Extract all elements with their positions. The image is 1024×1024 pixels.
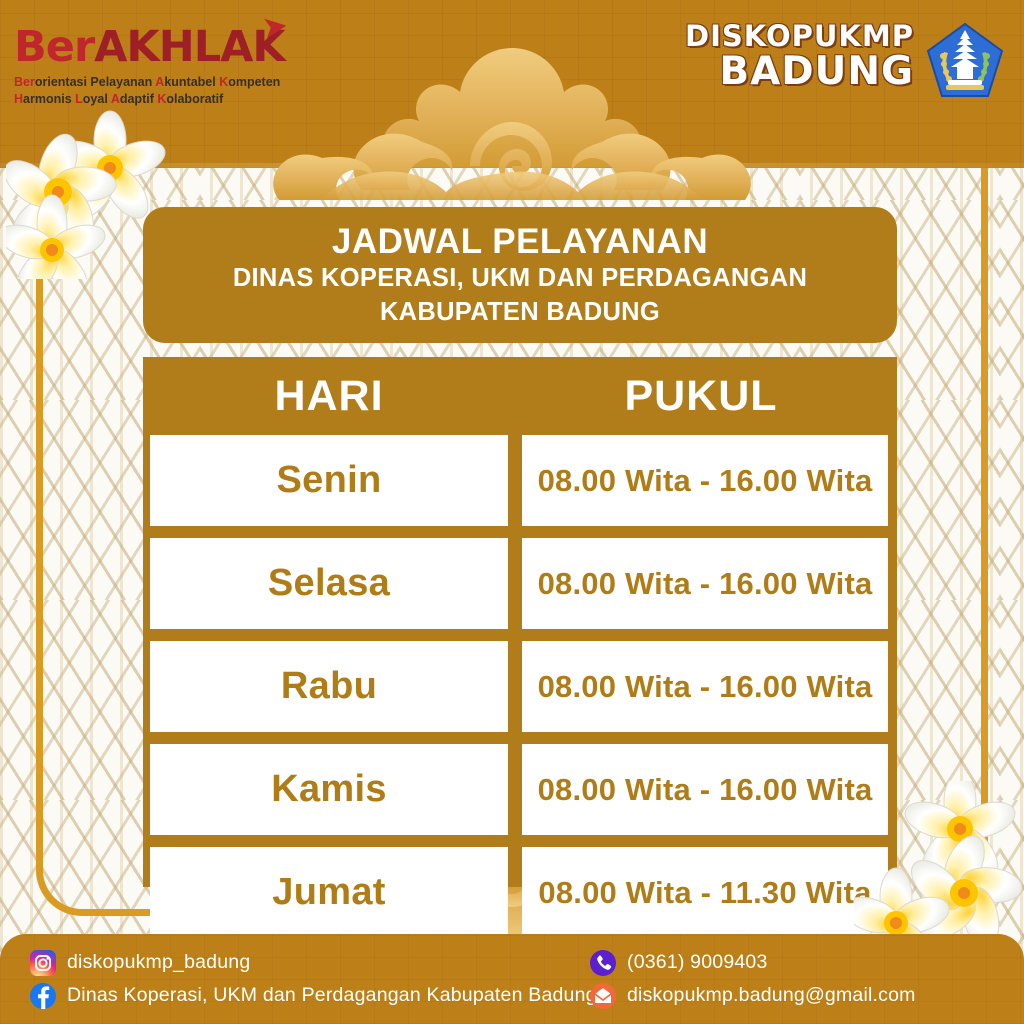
footer-left-column: diskopukmp_badung Dinas Koperasi, UKM da…: [30, 946, 597, 1012]
footer-email[interactable]: diskopukmp.badung@gmail.com: [590, 979, 916, 1012]
column-header-pukul: PUKUL: [515, 372, 887, 421]
cell-day: Senin: [150, 435, 508, 526]
cell-time: 08.00 Wita - 16.00 Wita: [522, 641, 888, 732]
poster-title: JADWAL PELAYANAN: [332, 221, 708, 262]
agency-brand-line2: BADUNG: [685, 52, 914, 92]
facebook-page-name: Dinas Koperasi, UKM dan Perdagangan Kabu…: [67, 984, 597, 1007]
berakhlak-tagline-line1: Berorientasi Pelayanan Akuntabel Kompete…: [14, 74, 285, 90]
table-row: Senin 08.00 Wita - 16.00 Wita: [143, 435, 897, 538]
footer-facebook[interactable]: Dinas Koperasi, UKM dan Perdagangan Kabu…: [30, 979, 597, 1012]
poster-subtitle-line1: DINAS KOPERASI, UKM DAN PERDAGANGAN: [233, 262, 807, 296]
footer-phone[interactable]: (0361) 9009403: [590, 946, 916, 979]
instagram-handle: diskopukmp_badung: [67, 951, 250, 974]
footer-contact-bar: diskopukmp_badung Dinas Koperasi, UKM da…: [0, 934, 1024, 1024]
berakhlak-wordmark: BerAKHLAK ➤: [14, 26, 285, 69]
table-header-row: HARI PUKUL: [143, 357, 897, 435]
column-header-hari: HARI: [143, 372, 515, 421]
table-row: Rabu 08.00 Wita - 16.00 Wita: [143, 641, 897, 744]
cell-time: 08.00 Wita - 11.30 Wita: [522, 847, 888, 938]
facebook-icon: [30, 983, 56, 1009]
agency-brand-line1: DISKOPUKMP: [685, 22, 914, 52]
table-row: Kamis 08.00 Wita - 16.00 Wita: [143, 744, 897, 847]
cell-day: Rabu: [150, 641, 508, 732]
cell-time: 08.00 Wita - 16.00 Wita: [522, 744, 888, 835]
cell-day: Selasa: [150, 538, 508, 629]
phone-icon: [590, 950, 616, 976]
title-card: JADWAL PELAYANAN DINAS KOPERASI, UKM DAN…: [143, 207, 897, 343]
phone-number: (0361) 9009403: [627, 951, 768, 974]
berakhlak-prefix: Ber: [14, 22, 94, 72]
poster-canvas: BerAKHLAK ➤ Berorientasi Pelayanan Akunt…: [0, 0, 1024, 1024]
cell-day: Jumat: [150, 847, 508, 938]
berakhlak-logo: BerAKHLAK ➤ Berorientasi Pelayanan Akunt…: [14, 26, 285, 107]
cell-time: 08.00 Wita - 16.00 Wita: [522, 538, 888, 629]
poster-subtitle-line2: KABUPATEN BADUNG: [380, 296, 660, 330]
email-address: diskopukmp.badung@gmail.com: [627, 984, 916, 1007]
cell-time: 08.00 Wita - 16.00 Wita: [522, 435, 888, 526]
footer-right-column: (0361) 9009403 diskopukmp.badung@gmail.c…: [590, 946, 916, 1012]
badung-regency-emblem-icon: [926, 22, 1004, 100]
agency-brand: DISKOPUKMP BADUNG: [685, 22, 914, 91]
berakhlak-main: AKHLAK: [94, 22, 285, 72]
email-icon: [590, 983, 616, 1009]
table-row: Selasa 08.00 Wita - 16.00 Wita: [143, 538, 897, 641]
schedule-table: HARI PUKUL Senin 08.00 Wita - 16.00 Wita…: [143, 357, 897, 887]
footer-instagram[interactable]: diskopukmp_badung: [30, 946, 597, 979]
frangipani-flowers-top-left: [6, 104, 191, 284]
cell-day: Kamis: [150, 744, 508, 835]
chevron-right-icon: ➤: [260, 10, 289, 44]
instagram-icon: [30, 950, 56, 976]
